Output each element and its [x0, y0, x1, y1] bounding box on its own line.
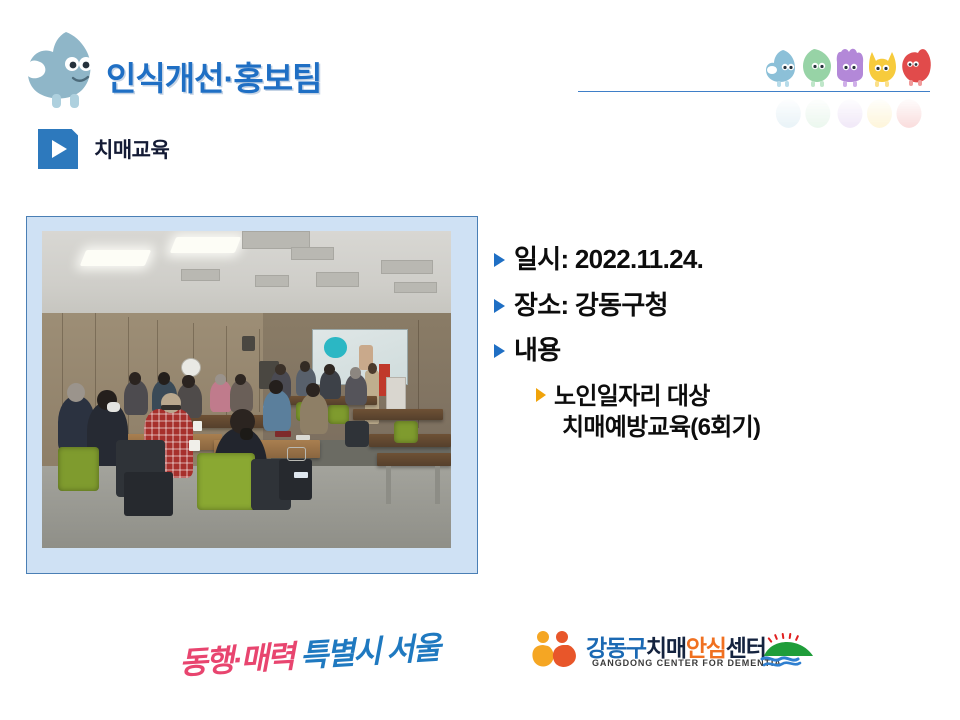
- blue-triangle-bullet-icon: [494, 344, 505, 358]
- five-mascot-characters-reflection: [765, 93, 935, 135]
- seoul-logo-text: 동행·매력 특별시 서울: [178, 622, 441, 683]
- subtitle-label: 치매교육: [94, 134, 169, 164]
- slide-canvas: 인식개선·홍보팀: [0, 0, 960, 720]
- list-item: 일시: 2022.11.24.: [494, 244, 924, 276]
- sub-bullet-list: 노인일자리 대상 치매예방교육(6회기): [536, 381, 924, 443]
- sub-bullet-line2: 치매예방교육(6회기): [554, 412, 760, 443]
- header-divider-line: [578, 91, 930, 92]
- page-title: 인식개선·홍보팀: [106, 52, 322, 100]
- five-mascot-characters-icon: [765, 44, 935, 91]
- photo-frame: [26, 216, 478, 574]
- sub-bullet-text: 노인일자리 대상 치매예방교육(6회기): [554, 381, 760, 443]
- bullet-list: 일시: 2022.11.24. 장소: 강동구청 내용 노인일자리 대상 치매예…: [494, 244, 924, 444]
- play-button-icon: [38, 129, 78, 169]
- list-item: 장소: 강동구청: [494, 290, 924, 322]
- blue-mascot-icon: [20, 26, 108, 112]
- bullet-content: 내용: [514, 335, 560, 367]
- header-decoration: [575, 40, 935, 135]
- amber-triangle-bullet-icon: [536, 388, 546, 402]
- bullet-date: 일시: 2022.11.24.: [514, 244, 703, 276]
- sub-list-item: 노인일자리 대상 치매예방교육(6회기): [536, 381, 924, 443]
- sub-bullet-line1: 노인일자리 대상: [554, 383, 710, 410]
- two-people-emblem-icon: [530, 630, 582, 670]
- blue-triangle-bullet-icon: [494, 253, 505, 267]
- lecture-room-photo: [42, 231, 451, 548]
- seoul-logo-part1: 동행·매력: [178, 639, 294, 681]
- gangdong-gu-sun-hill-wave-icon: [758, 632, 818, 668]
- seoul-brand-logo: 동행·매력 특별시 서울: [175, 628, 437, 686]
- gangdong-logo-subtitle: GANGDONG CENTER FOR DEMENTIA: [592, 658, 782, 668]
- blue-triangle-bullet-icon: [494, 299, 505, 313]
- section-subtitle: 치매교육: [38, 129, 169, 169]
- seoul-logo-part2: 특별시 서울: [299, 630, 440, 673]
- bullet-location: 장소: 강동구청: [514, 290, 668, 322]
- gangdong-dementia-center-logo: 강동구치매안심센터 GANGDONG CENTER FOR DEMENTIA: [530, 628, 822, 680]
- list-item: 내용: [494, 335, 924, 367]
